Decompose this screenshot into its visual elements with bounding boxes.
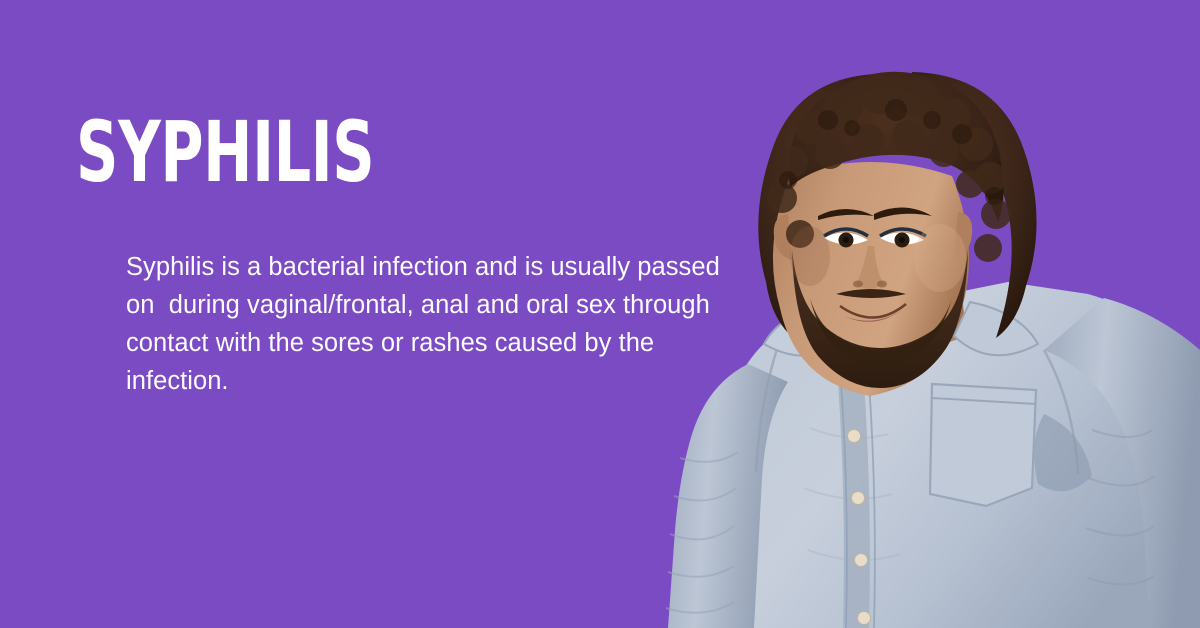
page-title: SYPHILIS [76,116,374,188]
description-text: Syphilis is a bacterial infection and is… [126,248,726,400]
info-banner: SYPHILIS Syphilis is a bacterial infecti… [0,0,1200,628]
neck [836,272,966,349]
text-column: SYPHILIS Syphilis is a bacterial infecti… [76,0,736,628]
nose [856,246,884,289]
beard [792,250,968,388]
shirt-collar [764,302,1038,356]
chest-pocket [930,384,1036,506]
hair-top [767,72,1011,262]
hair-left [758,74,876,340]
eyes [824,229,926,248]
face [773,162,969,396]
shirt-buttons [844,368,871,625]
denim-shirt [666,282,1200,628]
hair-right [912,72,1037,338]
mouth [840,304,906,322]
